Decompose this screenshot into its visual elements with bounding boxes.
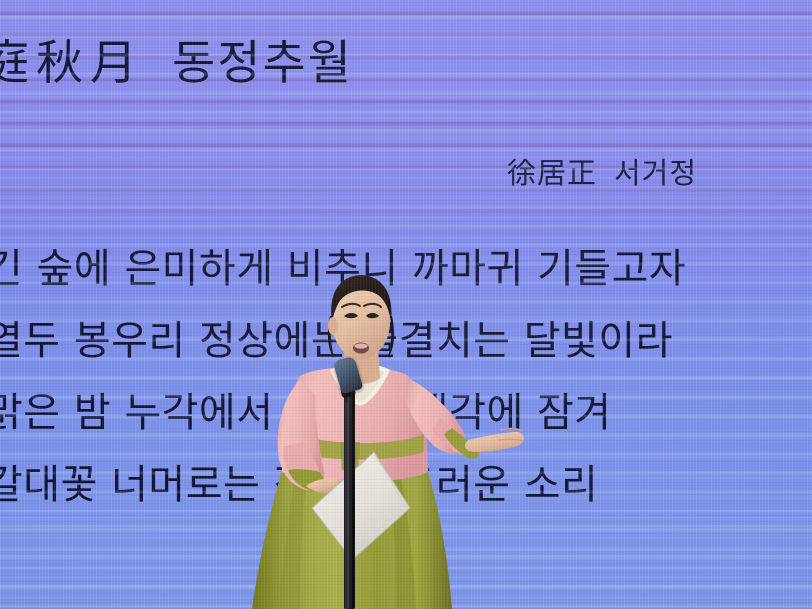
screenshot-canvas: 庭秋月동정추월 徐居正서거정 긴 숲에 은미하게 비추니 까마귀 기들고자 열두… [0,0,812,609]
sensor-grain [0,0,812,609]
